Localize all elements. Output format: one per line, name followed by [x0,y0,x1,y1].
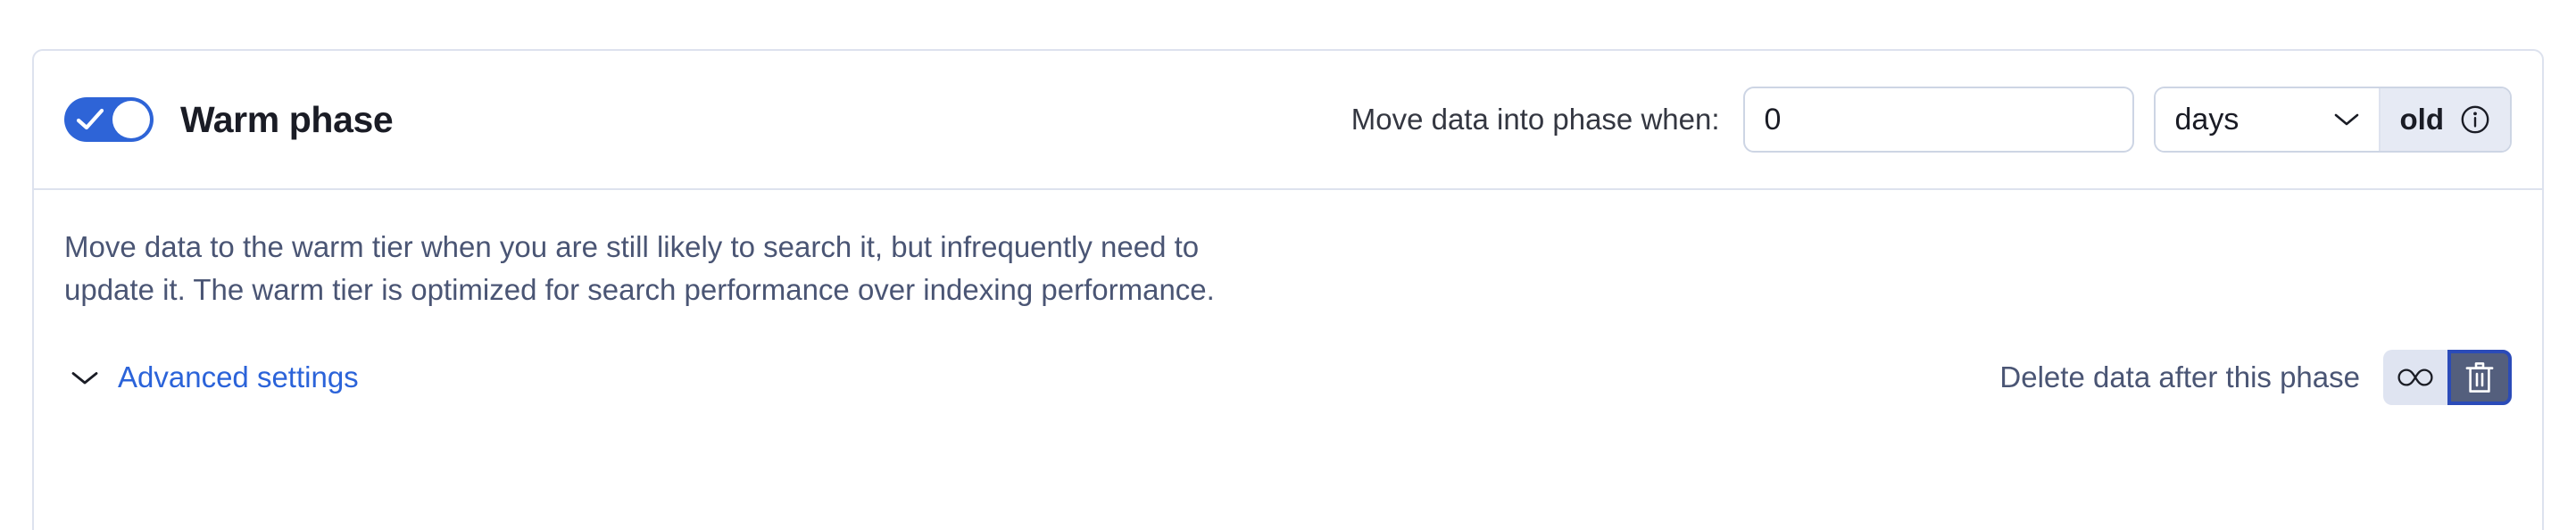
min-age-input[interactable] [1743,87,2134,153]
unit-select-group: days old [2154,87,2512,153]
page-title: Warm phase [180,99,393,141]
delete-data-button-group [2383,350,2512,405]
card-body: Move data to the warm tier when you are … [34,190,2542,405]
chevron-down-icon [71,370,98,385]
check-icon [76,107,104,132]
delete-data-button[interactable] [2447,350,2512,405]
old-label: old [2400,103,2444,137]
delete-data-area: Delete data after this phase [1999,350,2512,405]
advanced-settings-toggle[interactable]: Advanced settings [64,360,359,394]
toggle-knob [112,101,150,138]
warm-phase-card: Warm phase Move data into phase when: da… [32,49,2544,530]
trash-icon [2464,360,2495,394]
keep-forever-button[interactable] [2383,350,2447,405]
screen-root: Warm phase Move data into phase when: da… [0,0,2576,530]
header-right-group: Move data into phase when: days old [1351,87,2512,153]
chevron-down-icon [2334,112,2359,127]
advanced-settings-label: Advanced settings [118,360,359,394]
unit-append: old [2379,88,2510,151]
warm-phase-toggle[interactable] [64,97,154,142]
info-circle-icon[interactable] [2460,104,2490,135]
move-data-label: Move data into phase when: [1351,103,1720,137]
unit-select[interactable]: days [2156,88,2379,151]
unit-select-value: days [2156,103,2239,137]
phase-description: Move data to the warm tier when you are … [64,226,1296,311]
card-footer-row: Advanced settings Delete data after this… [64,350,2512,405]
infinity-icon [2396,366,2435,389]
delete-data-label: Delete data after this phase [1999,360,2360,394]
header-left-group: Warm phase [64,97,393,142]
card-header: Warm phase Move data into phase when: da… [34,51,2542,190]
